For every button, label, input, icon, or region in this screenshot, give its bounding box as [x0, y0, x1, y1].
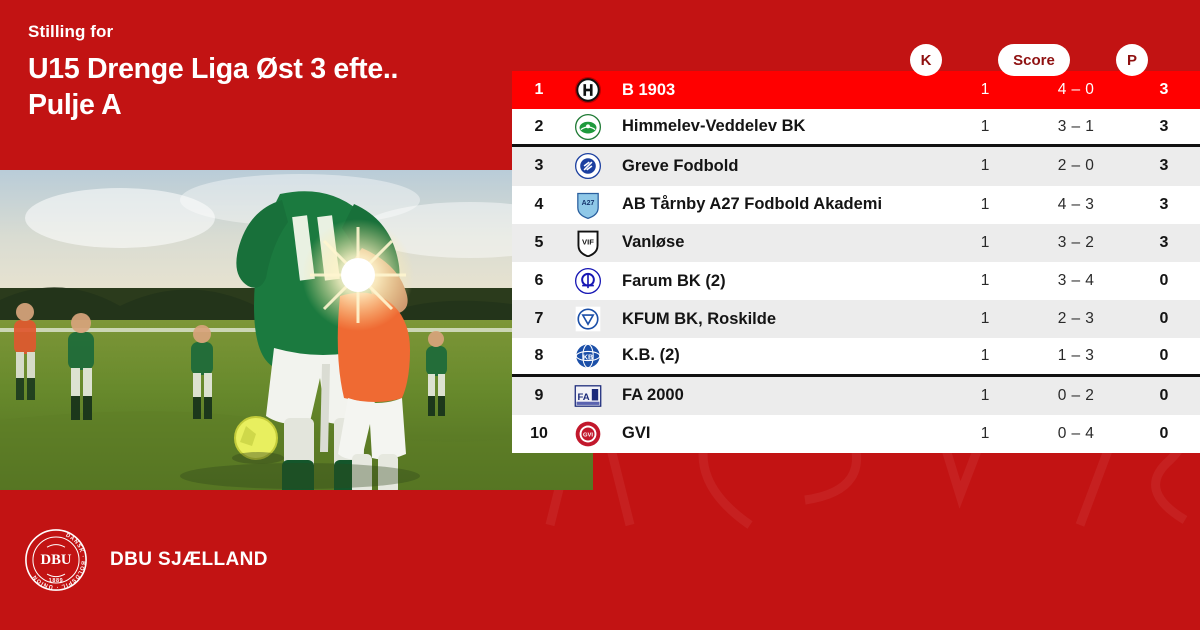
- gvi-logo: GVI: [566, 421, 610, 447]
- table-row[interactable]: 3Greve Fodbold12 – 03: [512, 147, 1200, 185]
- kb-logo: KB: [566, 343, 610, 369]
- row-team-name[interactable]: FA 2000: [610, 386, 946, 405]
- page-title: U15 Drenge Liga Øst 3 efte.. Pulje A: [28, 51, 484, 123]
- row-team-name[interactable]: Greve Fodbold: [610, 157, 946, 176]
- row-team-name[interactable]: Farum BK (2): [610, 272, 946, 291]
- hero-photo: [0, 170, 593, 490]
- row-position: 8: [512, 347, 566, 365]
- row-matches: 1: [946, 425, 1024, 443]
- dbu-crest-icon: DANSK · BOLDSPIL · UNION DBU 1889: [24, 528, 88, 592]
- table-column-headers: K Score P: [512, 44, 1200, 76]
- row-team-name[interactable]: K.B. (2): [610, 346, 946, 365]
- row-position: 10: [512, 425, 566, 443]
- column-header-p: P: [1116, 44, 1148, 76]
- row-score: 3 – 1: [1024, 118, 1128, 136]
- table-row[interactable]: 9FAFA 200010 – 20: [512, 377, 1200, 415]
- table-row[interactable]: 7KFUM BK, Roskilde12 – 30: [512, 300, 1200, 338]
- svg-text:GVI: GVI: [583, 432, 593, 438]
- abtaarnby-a27-logo: A27: [566, 191, 610, 219]
- fa2000-logo: FA: [566, 383, 610, 409]
- farum-bk-logo: [566, 268, 610, 294]
- row-points: 0: [1128, 387, 1200, 405]
- row-matches: 1: [946, 234, 1024, 252]
- row-score: 0 – 4: [1024, 425, 1128, 443]
- row-team-name[interactable]: Vanløse: [610, 233, 946, 252]
- standings-table: 1B 190314 – 032Himmelev-Veddelev BK13 – …: [512, 71, 1200, 453]
- row-position: 3: [512, 157, 566, 175]
- row-position: 9: [512, 387, 566, 405]
- row-team-name[interactable]: KFUM BK, Roskilde: [610, 310, 946, 329]
- svg-text:1889: 1889: [49, 578, 64, 584]
- table-row[interactable]: 1B 190314 – 03: [512, 71, 1200, 109]
- svg-text:FA: FA: [577, 391, 589, 402]
- table-row[interactable]: 2Himmelev-Veddelev BK13 – 13: [512, 109, 1200, 147]
- page-title-line-2: Pulje A: [28, 87, 484, 123]
- table-row[interactable]: 6Farum BK (2)13 – 40: [512, 262, 1200, 300]
- row-position: 5: [512, 234, 566, 252]
- eyebrow-label: Stilling for: [28, 22, 484, 42]
- row-points: 3: [1128, 81, 1200, 99]
- row-team-name[interactable]: GVI: [610, 424, 946, 443]
- row-position: 7: [512, 310, 566, 328]
- table-row[interactable]: 5VIFVanløse13 – 23: [512, 224, 1200, 262]
- row-score: 3 – 2: [1024, 234, 1128, 252]
- svg-text:A27: A27: [582, 200, 595, 207]
- svg-text:KB: KB: [583, 353, 593, 361]
- row-points: 0: [1128, 347, 1200, 365]
- row-position: 6: [512, 272, 566, 290]
- page-title-line-1: U15 Drenge Liga Øst 3 efte..: [28, 51, 484, 87]
- kfum-logo: [566, 306, 610, 332]
- row-points: 3: [1128, 234, 1200, 252]
- row-score: 4 – 0: [1024, 81, 1128, 99]
- table-row[interactable]: 8KBK.B. (2)11 – 30: [512, 338, 1200, 376]
- row-score: 4 – 3: [1024, 196, 1128, 214]
- row-points: 0: [1128, 272, 1200, 290]
- row-points: 3: [1128, 118, 1200, 136]
- row-matches: 1: [946, 81, 1024, 99]
- row-score: 3 – 4: [1024, 272, 1128, 290]
- row-score: 2 – 0: [1024, 157, 1128, 175]
- row-team-name[interactable]: AB Tårnby A27 Fodbold Akademi: [610, 195, 946, 214]
- svg-text:VIF: VIF: [582, 237, 594, 246]
- row-score: 0 – 2: [1024, 387, 1128, 405]
- row-score: 1 – 3: [1024, 347, 1128, 365]
- row-matches: 1: [946, 272, 1024, 290]
- row-points: 0: [1128, 425, 1200, 443]
- row-position: 4: [512, 196, 566, 214]
- header: Stilling for U15 Drenge Liga Øst 3 efte.…: [0, 0, 512, 170]
- vanlose-vif-logo: VIF: [566, 229, 610, 257]
- row-matches: 1: [946, 118, 1024, 136]
- footer-org-name: DBU SJÆLLAND: [110, 549, 268, 571]
- greve-logo: [566, 153, 610, 179]
- column-header-score: Score: [998, 44, 1070, 76]
- column-header-k: K: [910, 44, 942, 76]
- svg-text:DBU: DBU: [40, 552, 71, 568]
- row-matches: 1: [946, 347, 1024, 365]
- row-team-name[interactable]: B 1903: [610, 81, 946, 100]
- b1903-logo: [566, 77, 610, 103]
- row-points: 0: [1128, 310, 1200, 328]
- row-team-name[interactable]: Himmelev-Veddelev BK: [610, 117, 946, 136]
- row-points: 3: [1128, 196, 1200, 214]
- table-row[interactable]: 4A27AB Tårnby A27 Fodbold Akademi14 – 33: [512, 186, 1200, 224]
- row-position: 1: [512, 81, 566, 99]
- row-points: 3: [1128, 157, 1200, 175]
- table-row[interactable]: 10GVIGVI10 – 40: [512, 415, 1200, 453]
- himmelev-logo: [566, 114, 610, 140]
- row-matches: 1: [946, 310, 1024, 328]
- row-score: 2 – 3: [1024, 310, 1128, 328]
- row-matches: 1: [946, 157, 1024, 175]
- row-matches: 1: [946, 387, 1024, 405]
- footer: DANSK · BOLDSPIL · UNION DBU 1889 DBU SJ…: [0, 490, 1200, 630]
- row-position: 2: [512, 118, 566, 136]
- row-matches: 1: [946, 196, 1024, 214]
